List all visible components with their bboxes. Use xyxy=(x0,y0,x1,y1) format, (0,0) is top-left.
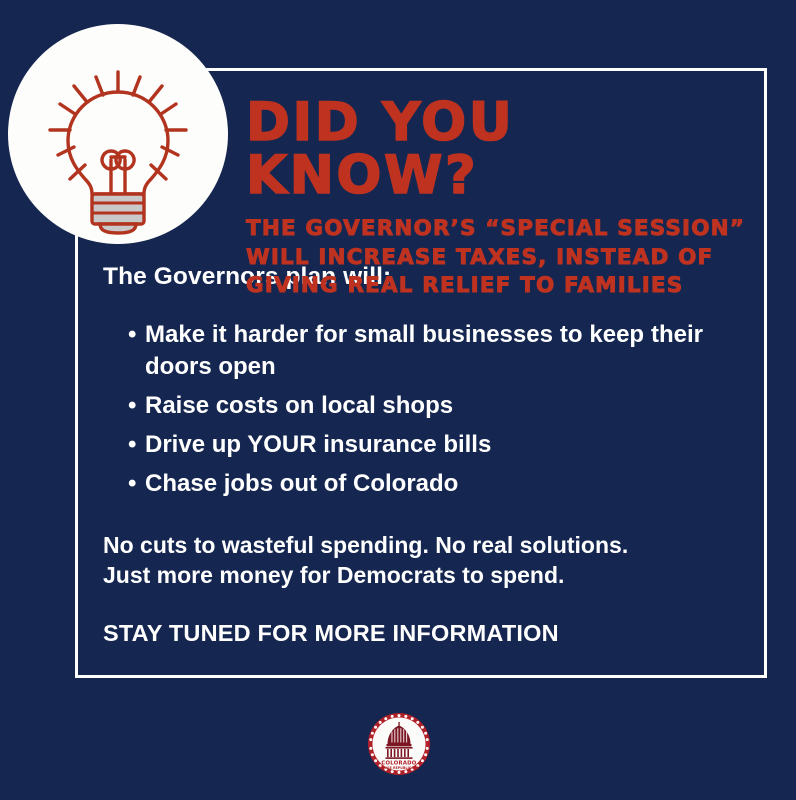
subheadline-line-1: THE GOVERNOR’S “SPECIAL SESSION” xyxy=(246,216,745,241)
subheadline-line-2: WILL INCREASE TAXES, INSTEAD OF xyxy=(246,245,713,270)
lightbulb-badge xyxy=(8,24,228,244)
headline-block: DID YOU KNOW? THE GOVERNOR’S “SPECIAL SE… xyxy=(246,96,746,301)
lightbulb-icon xyxy=(8,24,228,244)
list-item: Drive up YOUR insurance bills xyxy=(103,429,703,461)
list-item: Raise costs on local shops xyxy=(103,390,703,422)
plan-bullet-list: Make it harder for small businesses to k… xyxy=(103,319,703,500)
colorado-house-republicans-seal-icon: COLORADO HOUSE REPUBLICANS xyxy=(368,713,430,775)
subheadline-line-3: GIVING REAL RELIEF TO FAMILIES xyxy=(246,273,683,298)
closing-line-2: Just more money for Democrats to spend. xyxy=(103,560,703,591)
stay-tuned-text: STAY TUNED FOR MORE INFORMATION xyxy=(103,620,703,647)
page-title: DID YOU KNOW? xyxy=(246,96,746,202)
closing-line-1: No cuts to wasteful spending. No real so… xyxy=(103,530,703,561)
list-item: Make it harder for small businesses to k… xyxy=(103,319,703,383)
subheadline: THE GOVERNOR’S “SPECIAL SESSION” WILL IN… xyxy=(246,215,746,301)
closing-paragraph: No cuts to wasteful spending. No real so… xyxy=(103,530,703,592)
list-item: Chase jobs out of Colorado xyxy=(103,468,703,500)
logo-secondary-text: HOUSE REPUBLICANS xyxy=(379,766,419,770)
body-copy: The Governors plan will: Make it harder … xyxy=(103,263,703,647)
poster-graphic: DID YOU KNOW? THE GOVERNOR’S “SPECIAL SE… xyxy=(0,0,796,800)
organization-logo: COLORADO HOUSE REPUBLICANS xyxy=(368,713,430,775)
bulb-base xyxy=(92,194,144,233)
